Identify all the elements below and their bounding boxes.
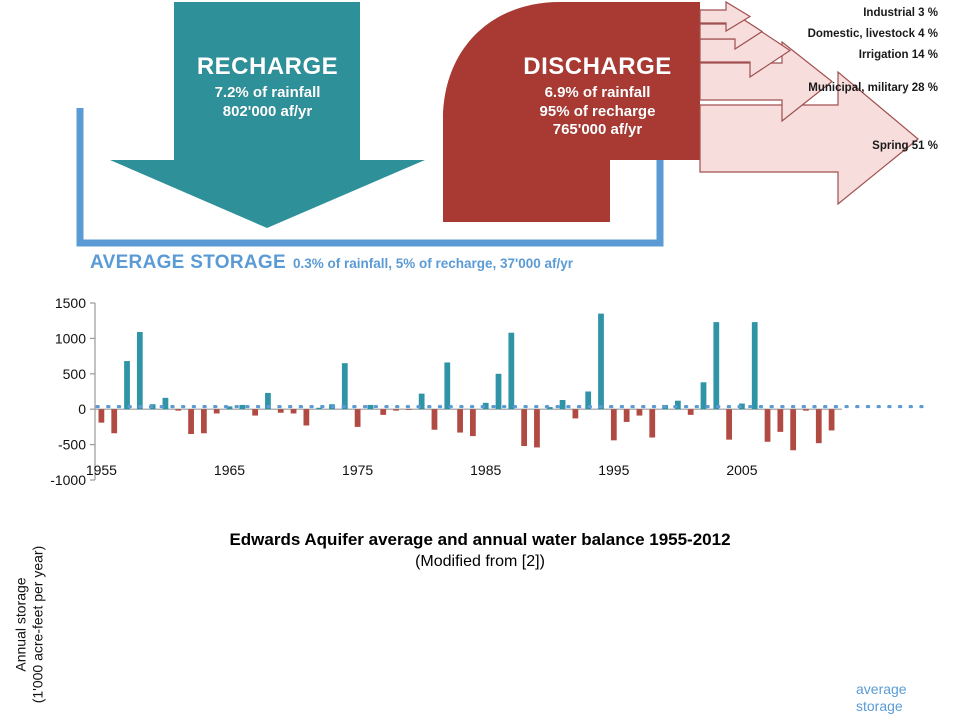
y-axis-tick-label: 1500 [55, 295, 86, 311]
water-balance-diagram: RECHARGE 7.2% of rainfall 802'000 af/yr … [0, 0, 960, 290]
chart-bar [380, 409, 386, 415]
chart-bar [573, 409, 579, 418]
chart-bar [188, 409, 194, 434]
chart-bar [432, 409, 438, 430]
chart-bar [790, 409, 796, 450]
y-axis-tick-label: -1000 [50, 472, 86, 488]
chart-bar [214, 409, 220, 413]
outflow-label-industrial: Industrial 3 % [770, 7, 938, 19]
figure-caption: Edwards Aquifer average and annual water… [0, 530, 960, 571]
chart-bar [137, 332, 143, 409]
chart-bar [239, 405, 245, 409]
chart-bar [470, 409, 476, 436]
chart-bar [637, 409, 643, 415]
chart-bar [201, 409, 207, 433]
chart-plot-area: 150010005000-500-10001955196519751985199… [0, 290, 960, 505]
outflow-label-spring: Spring 51 % [770, 140, 938, 152]
x-axis-tick-label: 1985 [470, 462, 501, 478]
y-axis-tick-label: 0 [78, 401, 86, 417]
caption-line2: (Modified from [2]) [0, 553, 960, 571]
chart-bar [457, 409, 463, 432]
x-axis-tick-label: 2005 [726, 462, 757, 478]
x-axis-tick-label: 1965 [214, 462, 245, 478]
chart-bar [765, 409, 771, 442]
chart-bar [444, 362, 450, 409]
chart-bar [803, 409, 809, 410]
x-axis-tick-label: 1995 [598, 462, 629, 478]
chart-bar [816, 409, 822, 443]
chart-bar [303, 409, 309, 425]
chart-bar [688, 409, 694, 415]
legend-label-average: average [856, 682, 907, 696]
chart-bar [393, 409, 399, 410]
chart-bar [726, 409, 732, 439]
chart-bar [611, 409, 617, 440]
chart-bar [560, 400, 566, 409]
chart-bar [534, 409, 540, 447]
chart-bar [278, 409, 284, 413]
outflow-label-domestic: Domestic, livestock 4 % [770, 28, 938, 40]
x-axis-tick-label: 1955 [86, 462, 117, 478]
x-axis-tick-label: 1975 [342, 462, 373, 478]
average-storage-caption: AVERAGE STORAGE0.3% of rainfall, 5% of r… [90, 252, 573, 274]
legend-label-storage: storage [856, 699, 903, 713]
chart-bar [829, 409, 835, 430]
chart-bar [406, 409, 412, 410]
figure-root: RECHARGE 7.2% of rainfall 802'000 af/yr … [0, 0, 960, 601]
chart-bar [291, 409, 297, 413]
average-storage-title: AVERAGE STORAGE [90, 252, 286, 273]
chart-bar [713, 322, 719, 409]
chart-bar [99, 409, 105, 422]
chart-bar [175, 409, 181, 410]
outflow-label-municipal: Municipal, military 28 % [770, 82, 938, 94]
chart-bar [368, 405, 374, 409]
chart-bar [521, 409, 527, 446]
chart-bar [624, 409, 630, 422]
y-axis-tick-label: -500 [58, 437, 86, 453]
recharge-arrow [110, 2, 425, 228]
chart-bar [124, 361, 130, 409]
chart-bar [598, 314, 604, 410]
chart-bar [355, 409, 361, 427]
chart-bar [342, 363, 348, 409]
chart-bar [752, 322, 758, 409]
outflow-label-irrigation: Irrigation 14 % [770, 49, 938, 61]
chart-bar [496, 374, 502, 409]
chart-bar [111, 409, 117, 433]
caption-line1: Edwards Aquifer average and annual water… [0, 530, 960, 550]
y-axis-tick-label: 1000 [55, 330, 86, 346]
chart-bar [252, 409, 258, 415]
chart-bar [649, 409, 655, 437]
chart-bar [508, 333, 514, 409]
average-storage-detail: 0.3% of rainfall, 5% of recharge, 37'000… [293, 256, 573, 271]
chart-bar [701, 382, 707, 409]
annual-storage-chart: 150010005000-500-10001955196519751985199… [0, 290, 960, 505]
y-axis-tick-label: 500 [63, 366, 87, 382]
chart-bar [777, 409, 783, 432]
